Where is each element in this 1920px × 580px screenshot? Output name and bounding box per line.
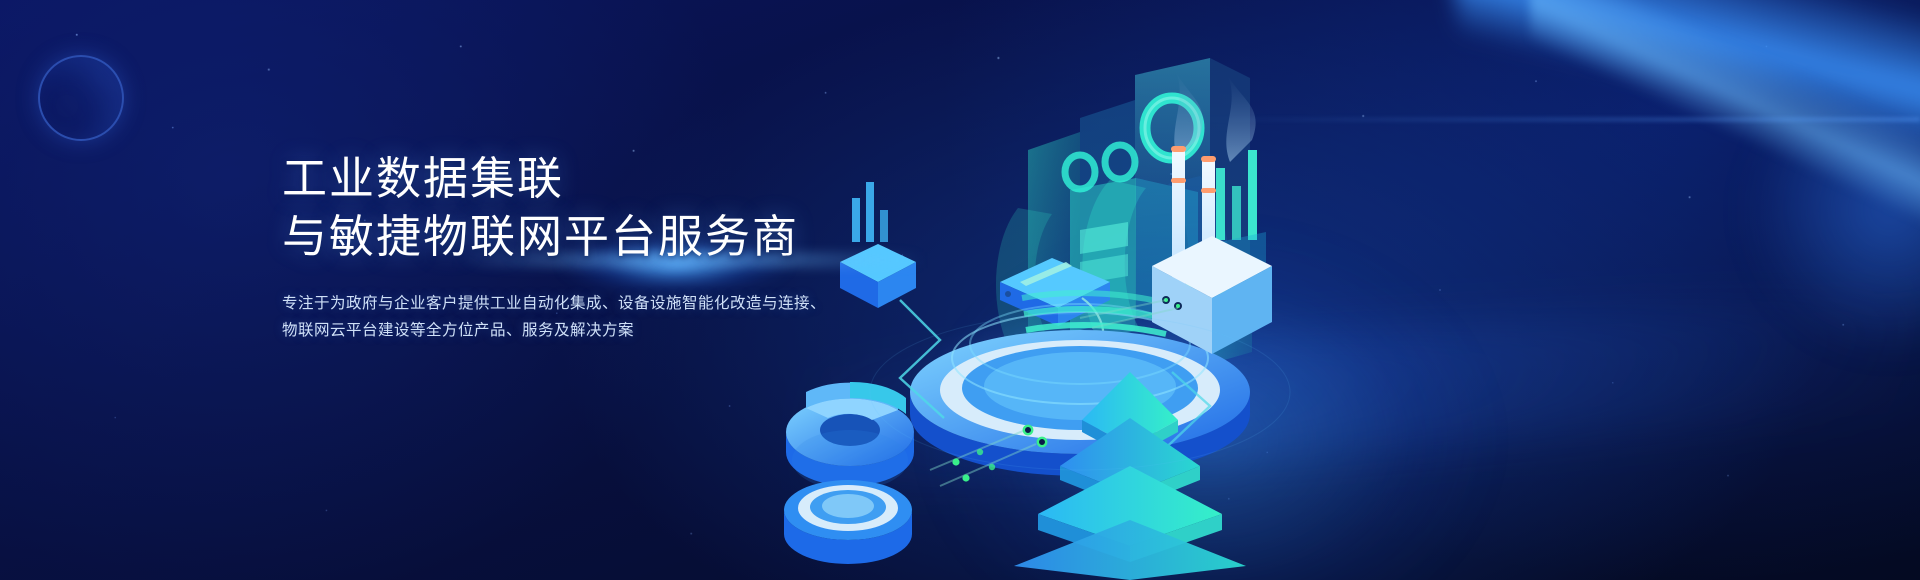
hero-copy: 工业数据集联 与敏捷物联网平台服务商 专注于为政府与企业客户提供工业自动化集成、… bbox=[282, 150, 922, 344]
headline-line-2: 与敏捷物联网平台服务商 bbox=[282, 208, 922, 266]
donut-chart-icon bbox=[786, 382, 914, 490]
headline-line-1: 工业数据集联 bbox=[282, 150, 922, 208]
subtitle-line-2: 物联网云平台建设等全方位产品、服务及解决方案 bbox=[282, 317, 922, 344]
crescent-planet-icon bbox=[38, 55, 124, 141]
subtitle-line-1: 专注于为政府与企业客户提供工业自动化集成、设备设施智能化改造与连接、 bbox=[282, 290, 922, 317]
cylinder-disc-icon bbox=[784, 480, 912, 564]
illustration-isometric-iot-scene bbox=[780, 0, 1920, 580]
hero-subtitle: 专注于为政府与企业客户提供工业自动化集成、设备设施智能化改造与连接、 物联网云平… bbox=[282, 290, 922, 344]
hero-banner: 工业数据集联 与敏捷物联网平台服务商 专注于为政府与企业客户提供工业自动化集成、… bbox=[0, 0, 1920, 580]
